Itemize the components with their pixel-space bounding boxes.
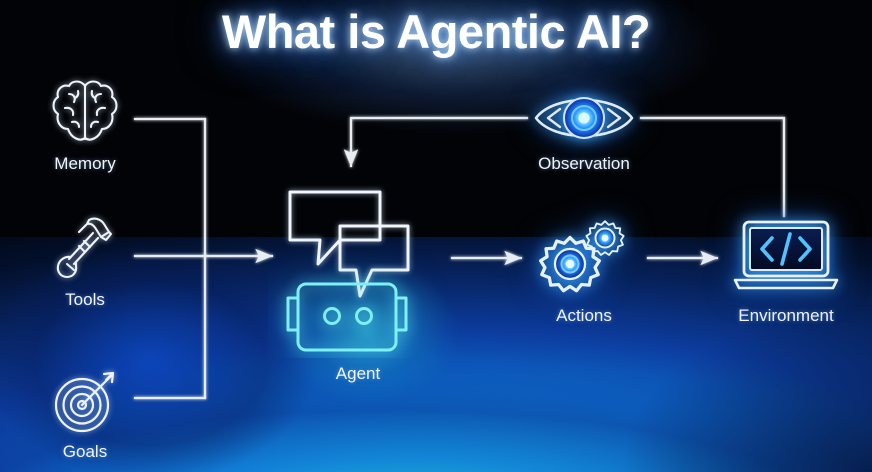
node-observation[interactable]: Observation [504,88,664,174]
node-actions-label: Actions [514,306,654,326]
node-agent-label: Agent [268,364,448,384]
gears-icon [532,212,636,298]
brain-icon [48,76,122,148]
node-goals[interactable]: Goals [15,366,155,462]
node-memory-label: Memory [15,154,155,174]
node-memory[interactable]: Memory [15,76,155,174]
node-observation-label: Observation [504,154,664,174]
node-agent[interactable]: Agent [268,178,448,384]
node-actions[interactable]: Actions [514,212,654,326]
robot-chat-icon [268,178,448,358]
diagram-canvas: What is Agentic AI? [0,0,872,472]
laptop-code-icon [730,212,842,298]
target-icon [49,366,121,436]
node-tools[interactable]: Tools [15,212,155,310]
node-tools-label: Tools [15,290,155,310]
robot-head-icon [288,284,406,350]
chat-bubbles-icon [290,192,408,296]
node-environment-label: Environment [706,306,866,326]
hammer-icon [49,212,121,282]
node-goals-label: Goals [15,442,155,462]
eye-icon [526,88,642,148]
wire-observation-to-agent [351,118,527,166]
node-environment[interactable]: Environment [706,212,866,326]
